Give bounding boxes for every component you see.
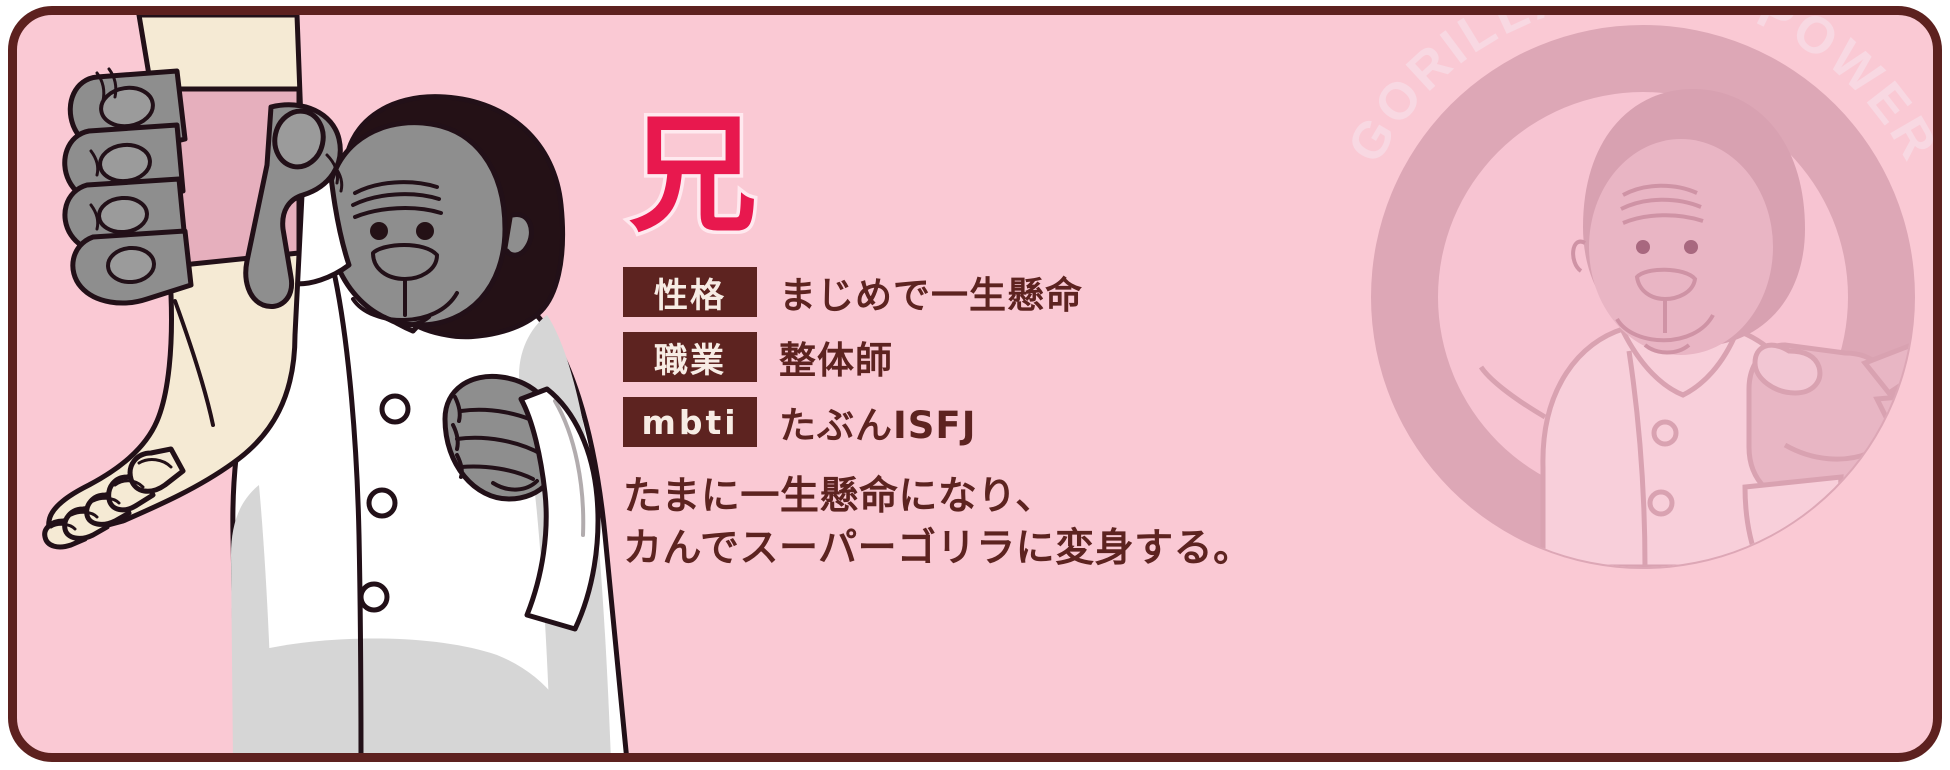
attribute-label-mbti: mbti — [623, 397, 757, 447]
page-title: 兄 — [629, 111, 1383, 251]
attribute-value-mbti: たぶんISFJ — [779, 395, 976, 449]
character-profile-card: GORILLA HIGH POWER — [8, 6, 1942, 762]
description-line-1: たまに一生懸命になり、 — [623, 471, 1383, 523]
badge-gorilla-figure — [1481, 89, 1942, 611]
attribute-row-personality: 性格 まじめで一生懸命 — [623, 265, 1383, 319]
attribute-row-mbti: mbti たぶんISFJ — [623, 395, 1383, 449]
attribute-row-occupation: 職業 整体師 — [623, 330, 1383, 384]
badge-outer-ring — [1371, 25, 1915, 569]
attribute-label-occupation: 職業 — [623, 332, 757, 382]
profile-text-panel: 兄 性格 まじめで一生懸命 職業 整体師 mbti たぶんISFJ たまに一生懸… — [623, 111, 1383, 575]
attribute-value-personality: まじめで一生懸命 — [779, 265, 1083, 319]
character-description: たまに一生懸命になり、 カんでスーパーゴリラに変身する。 — [623, 471, 1383, 575]
description-line-2: カんでスーパーゴリラに変身する。 — [623, 523, 1383, 575]
attribute-value-occupation: 整体師 — [779, 330, 893, 384]
attribute-label-personality: 性格 — [623, 267, 757, 317]
gorilla-high-power-badge: GORILLA HIGH POWER — [1293, 6, 1942, 647]
badge-inner-disc — [1438, 92, 1848, 502]
gorilla-character-illustration — [27, 15, 647, 761]
badge-text: GORILLA HIGH POWER — [1337, 6, 1942, 172]
